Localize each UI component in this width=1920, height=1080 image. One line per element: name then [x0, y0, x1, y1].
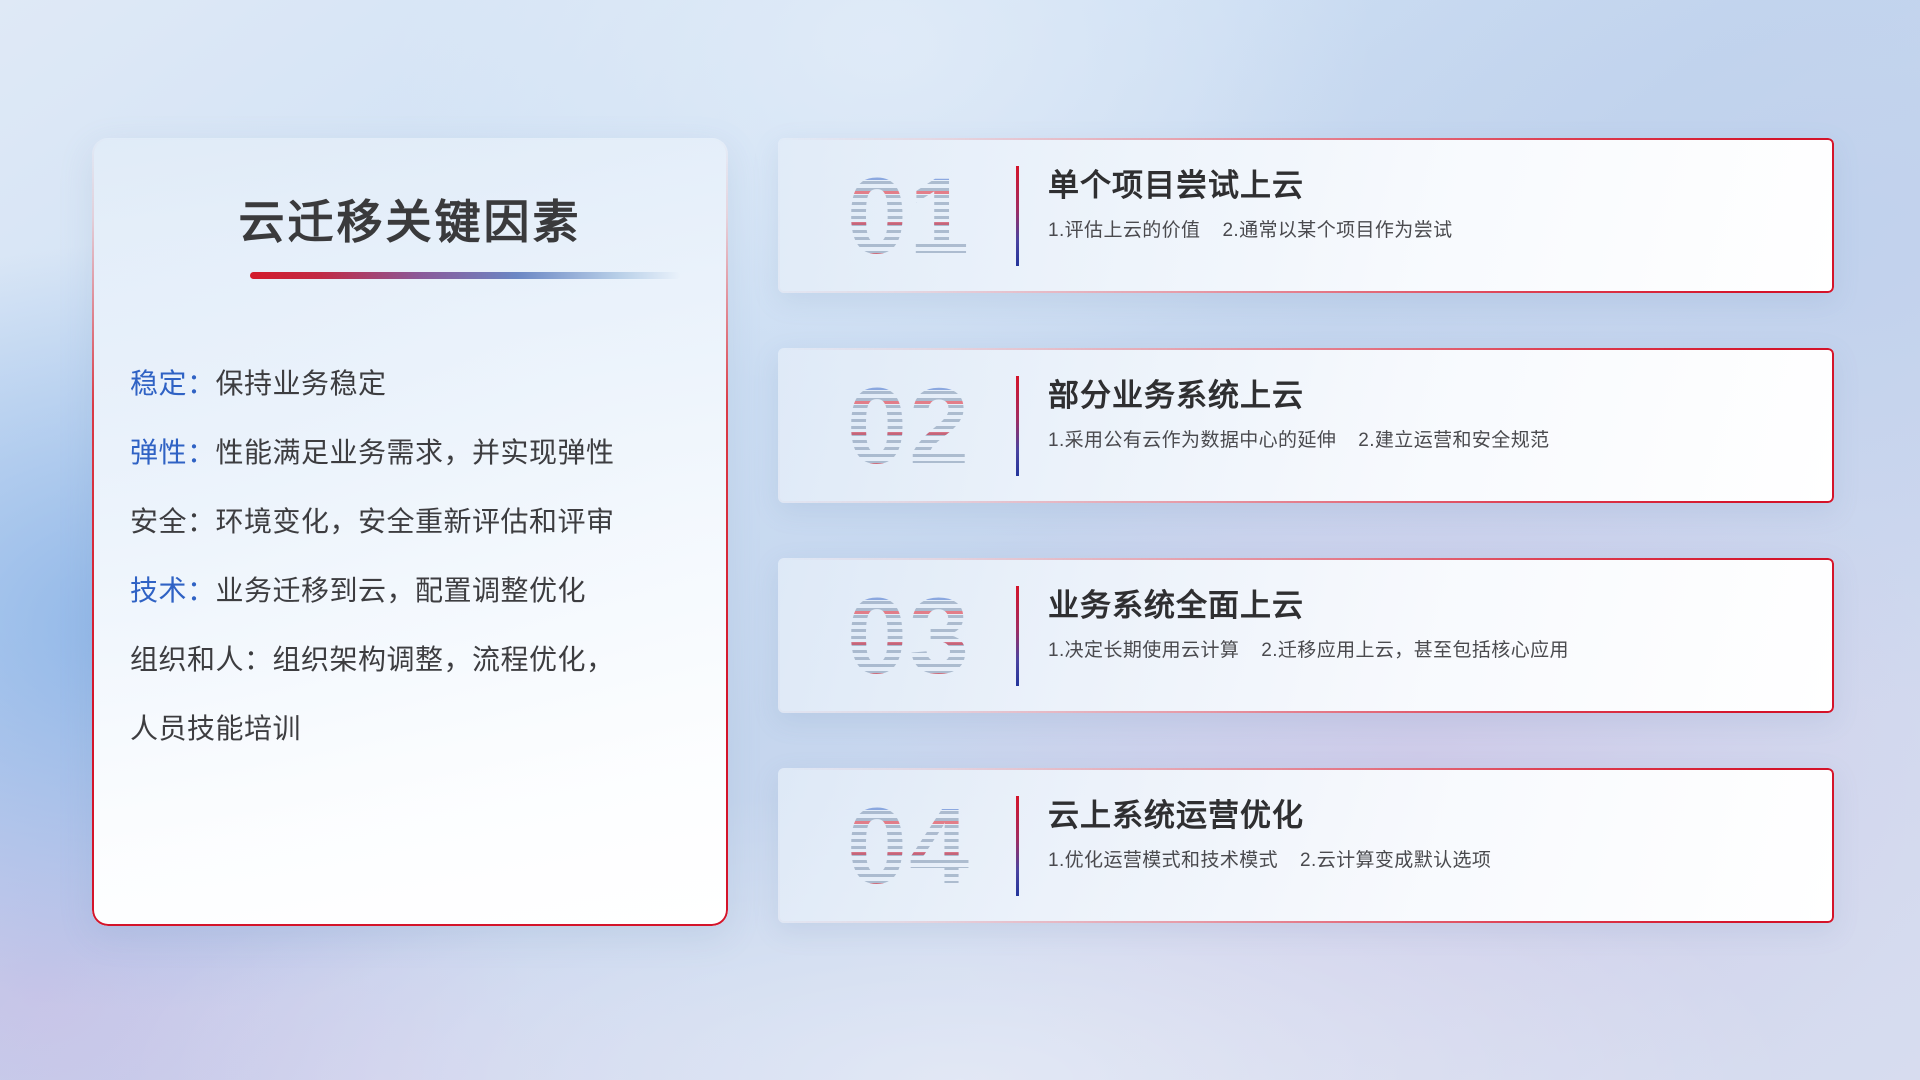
- stage-number-accent-stripes: 03: [814, 580, 1004, 692]
- stage-number-accent-stripes: 02: [814, 370, 1004, 482]
- key-factor-value: 业务迁移到云，配置调整优化: [216, 575, 587, 606]
- stage-point-2: 2.建立运营和安全规范: [1358, 430, 1549, 451]
- key-factor-row: 弹性：性能满足业务需求，并实现弹性: [130, 439, 698, 467]
- stage-number-accent-stripes: 01: [814, 160, 1004, 272]
- stage-card[interactable]: 0404云上系统运营优化1.优化运营模式和技术模式2.云计算变成默认选项: [778, 768, 1834, 923]
- stage-title: 云上系统运营优化: [1048, 798, 1808, 835]
- stage-card[interactable]: 0303业务系统全面上云1.决定长期使用云计算2.迁移应用上云，甚至包括核心应用: [778, 558, 1834, 713]
- key-factor-value: 人员技能培训: [130, 713, 301, 744]
- key-factor-value: 保持业务稳定: [216, 368, 387, 399]
- key-factor-value: 性能满足业务需求，并实现弹性: [216, 437, 615, 468]
- key-factor-row: 安全：环境变化，安全重新评估和评审: [130, 508, 698, 536]
- stage-title: 单个项目尝试上云: [1048, 168, 1808, 205]
- key-factor-row: 稳定：保持业务稳定: [130, 370, 698, 398]
- stage-number-accent-stripes: 04: [814, 790, 1004, 902]
- stage-points: 1.决定长期使用云计算2.迁移应用上云，甚至包括核心应用: [1048, 639, 1808, 664]
- key-factor-row: 组织和人：组织架构调整，流程优化，: [130, 646, 698, 674]
- stage-divider-line: [1016, 376, 1019, 476]
- key-factor-value: 环境变化，安全重新评估和评审: [216, 506, 615, 537]
- key-factors-panel: 云迁移关键因素 稳定：保持业务稳定弹性：性能满足业务需求，并实现弹性安全：环境变…: [92, 138, 728, 926]
- stage-point-2: 2.云计算变成默认选项: [1300, 850, 1491, 871]
- stage-card-body: 业务系统全面上云1.决定长期使用云计算2.迁移应用上云，甚至包括核心应用: [1048, 588, 1808, 663]
- stage-points: 1.优化运营模式和技术模式2.云计算变成默认选项: [1048, 849, 1808, 874]
- stage-point-2: 2.通常以某个项目作为尝试: [1222, 220, 1452, 241]
- stage-divider-line: [1016, 796, 1019, 896]
- stage-point-1: 1.决定长期使用云计算: [1048, 640, 1239, 661]
- stage-title: 部分业务系统上云: [1048, 378, 1808, 415]
- slide-stage: 云迁移关键因素 稳定：保持业务稳定弹性：性能满足业务需求，并实现弹性安全：环境变…: [0, 0, 1920, 1080]
- stage-card-body: 部分业务系统上云1.采用公有云作为数据中心的延伸2.建立运营和安全规范: [1048, 378, 1808, 453]
- key-factor-label: 技术：: [130, 575, 216, 606]
- title-underline-gradient: [250, 272, 680, 279]
- stage-point-1: 1.评估上云的价值: [1048, 220, 1200, 241]
- stage-card-body: 单个项目尝试上云1.评估上云的价值2.通常以某个项目作为尝试: [1048, 168, 1808, 243]
- key-factor-row: 技术：业务迁移到云，配置调整优化: [130, 577, 698, 605]
- stage-point-1: 1.采用公有云作为数据中心的延伸: [1048, 430, 1336, 451]
- stage-card[interactable]: 0202部分业务系统上云1.采用公有云作为数据中心的延伸2.建立运营和安全规范: [778, 348, 1834, 503]
- page-title: 云迁移关键因素: [92, 186, 728, 252]
- key-factor-label: 稳定：: [130, 368, 216, 399]
- stage-card-list: 0101单个项目尝试上云1.评估上云的价值2.通常以某个项目作为尝试0202部分…: [778, 138, 1834, 923]
- key-factor-label: 安全：: [130, 506, 216, 537]
- stage-divider-line: [1016, 586, 1019, 686]
- stage-point-2: 2.迁移应用上云，甚至包括核心应用: [1261, 640, 1569, 661]
- stage-points: 1.评估上云的价值2.通常以某个项目作为尝试: [1048, 219, 1808, 244]
- key-factor-label: 弹性：: [130, 437, 216, 468]
- key-factor-label: 组织和人：: [130, 644, 273, 675]
- stage-points: 1.采用公有云作为数据中心的延伸2.建立运营和安全规范: [1048, 429, 1808, 454]
- stage-title: 业务系统全面上云: [1048, 588, 1808, 625]
- stage-divider-line: [1016, 166, 1019, 266]
- key-factors-list: 稳定：保持业务稳定弹性：性能满足业务需求，并实现弹性安全：环境变化，安全重新评估…: [130, 370, 698, 743]
- stage-card-body: 云上系统运营优化1.优化运营模式和技术模式2.云计算变成默认选项: [1048, 798, 1808, 873]
- stage-point-1: 1.优化运营模式和技术模式: [1048, 850, 1278, 871]
- stage-card[interactable]: 0101单个项目尝试上云1.评估上云的价值2.通常以某个项目作为尝试: [778, 138, 1834, 293]
- key-factor-row: 人员技能培训: [130, 715, 698, 743]
- key-factor-value: 组织架构调整，流程优化，: [273, 644, 615, 675]
